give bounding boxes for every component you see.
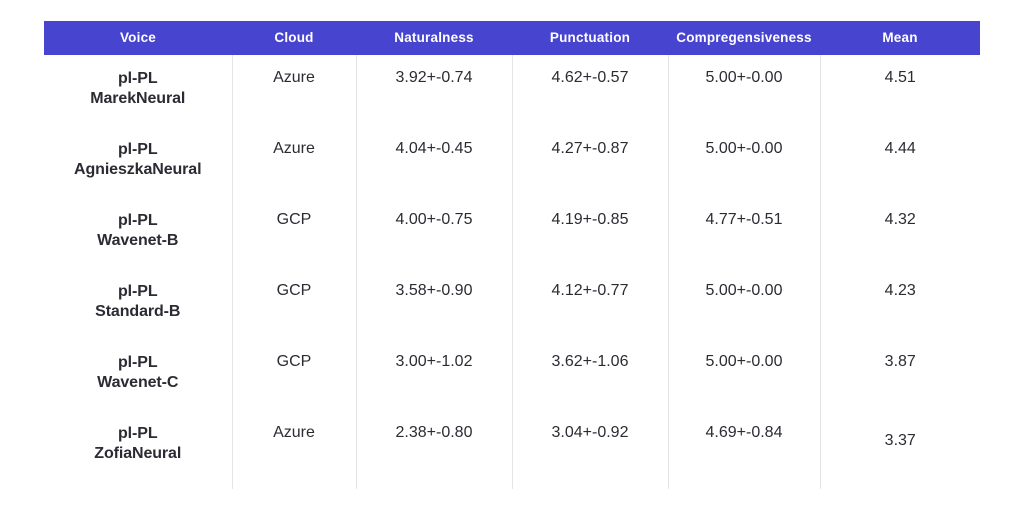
cell-mean: 4.23 xyxy=(820,268,980,339)
cell-punctuation: 4.12+-0.77 xyxy=(512,268,668,339)
voice-language: pl-PL xyxy=(50,353,226,373)
cell-voice: pl-PL ZofiaNeural xyxy=(44,410,232,489)
voice-name: MarekNeural xyxy=(50,89,226,109)
cell-compregensiveness: 5.00+-0.00 xyxy=(668,126,820,197)
cell-cloud: GCP xyxy=(232,197,356,268)
voice-language: pl-PL xyxy=(50,69,226,89)
cell-mean: 3.87 xyxy=(820,339,980,410)
cell-mean: 3.37 xyxy=(820,410,980,489)
column-header-mean: Mean xyxy=(820,21,980,55)
cell-naturalness: 3.92+-0.74 xyxy=(356,55,512,126)
cell-cloud: Azure xyxy=(232,410,356,489)
voice-language: pl-PL xyxy=(50,211,226,231)
cell-voice: pl-PL Wavenet-C xyxy=(44,339,232,410)
table-header-row: Voice Cloud Naturalness Punctuation Comp… xyxy=(44,21,980,55)
column-header-punctuation: Punctuation xyxy=(512,21,668,55)
table-row: pl-PL MarekNeural Azure 3.92+-0.74 4.62+… xyxy=(44,55,980,126)
results-table-container: Voice Cloud Naturalness Punctuation Comp… xyxy=(44,21,980,489)
cell-punctuation: 4.62+-0.57 xyxy=(512,55,668,126)
voice-name: Wavenet-C xyxy=(50,373,226,393)
cell-punctuation: 3.04+-0.92 xyxy=(512,410,668,489)
cell-naturalness: 4.04+-0.45 xyxy=(356,126,512,197)
cell-cloud: Azure xyxy=(232,55,356,126)
cell-naturalness: 2.38+-0.80 xyxy=(356,410,512,489)
voice-name: Wavenet-B xyxy=(50,231,226,251)
cell-compregensiveness: 5.00+-0.00 xyxy=(668,268,820,339)
cell-compregensiveness: 4.77+-0.51 xyxy=(668,197,820,268)
cell-punctuation: 4.19+-0.85 xyxy=(512,197,668,268)
page-root: Voice Cloud Naturalness Punctuation Comp… xyxy=(0,0,1024,513)
cell-voice: pl-PL AgnieszkaNeural xyxy=(44,126,232,197)
cell-cloud: GCP xyxy=(232,339,356,410)
table-row: pl-PL ZofiaNeural Azure 2.38+-0.80 3.04+… xyxy=(44,410,980,489)
column-header-voice: Voice xyxy=(44,21,232,55)
cell-compregensiveness: 5.00+-0.00 xyxy=(668,339,820,410)
cell-mean: 4.32 xyxy=(820,197,980,268)
voice-name: AgnieszkaNeural xyxy=(50,160,226,180)
table-row: pl-PL Wavenet-B GCP 4.00+-0.75 4.19+-0.8… xyxy=(44,197,980,268)
column-header-cloud: Cloud xyxy=(232,21,356,55)
cell-punctuation: 3.62+-1.06 xyxy=(512,339,668,410)
table-header: Voice Cloud Naturalness Punctuation Comp… xyxy=(44,21,980,55)
cell-mean: 4.44 xyxy=(820,126,980,197)
column-header-compregensiveness: Compregensiveness xyxy=(668,21,820,55)
cell-naturalness: 3.58+-0.90 xyxy=(356,268,512,339)
cell-naturalness: 4.00+-0.75 xyxy=(356,197,512,268)
voice-language: pl-PL xyxy=(50,140,226,160)
cell-voice: pl-PL Standard-B xyxy=(44,268,232,339)
cell-mean: 4.51 xyxy=(820,55,980,126)
cell-compregensiveness: 5.00+-0.00 xyxy=(668,55,820,126)
cell-punctuation: 4.27+-0.87 xyxy=(512,126,668,197)
cell-naturalness: 3.00+-1.02 xyxy=(356,339,512,410)
table-row: pl-PL AgnieszkaNeural Azure 4.04+-0.45 4… xyxy=(44,126,980,197)
voice-name: ZofiaNeural xyxy=(50,444,226,464)
cell-voice: pl-PL Wavenet-B xyxy=(44,197,232,268)
table-row: pl-PL Standard-B GCP 3.58+-0.90 4.12+-0.… xyxy=(44,268,980,339)
cell-voice: pl-PL MarekNeural xyxy=(44,55,232,126)
column-header-naturalness: Naturalness xyxy=(356,21,512,55)
cell-cloud: GCP xyxy=(232,268,356,339)
cell-compregensiveness: 4.69+-0.84 xyxy=(668,410,820,489)
table-body: pl-PL MarekNeural Azure 3.92+-0.74 4.62+… xyxy=(44,55,980,489)
cell-cloud: Azure xyxy=(232,126,356,197)
table-row: pl-PL Wavenet-C GCP 3.00+-1.02 3.62+-1.0… xyxy=(44,339,980,410)
tts-voice-results-table: Voice Cloud Naturalness Punctuation Comp… xyxy=(44,21,980,489)
voice-language: pl-PL xyxy=(50,282,226,302)
voice-name: Standard-B xyxy=(50,302,226,322)
voice-language: pl-PL xyxy=(50,424,226,444)
